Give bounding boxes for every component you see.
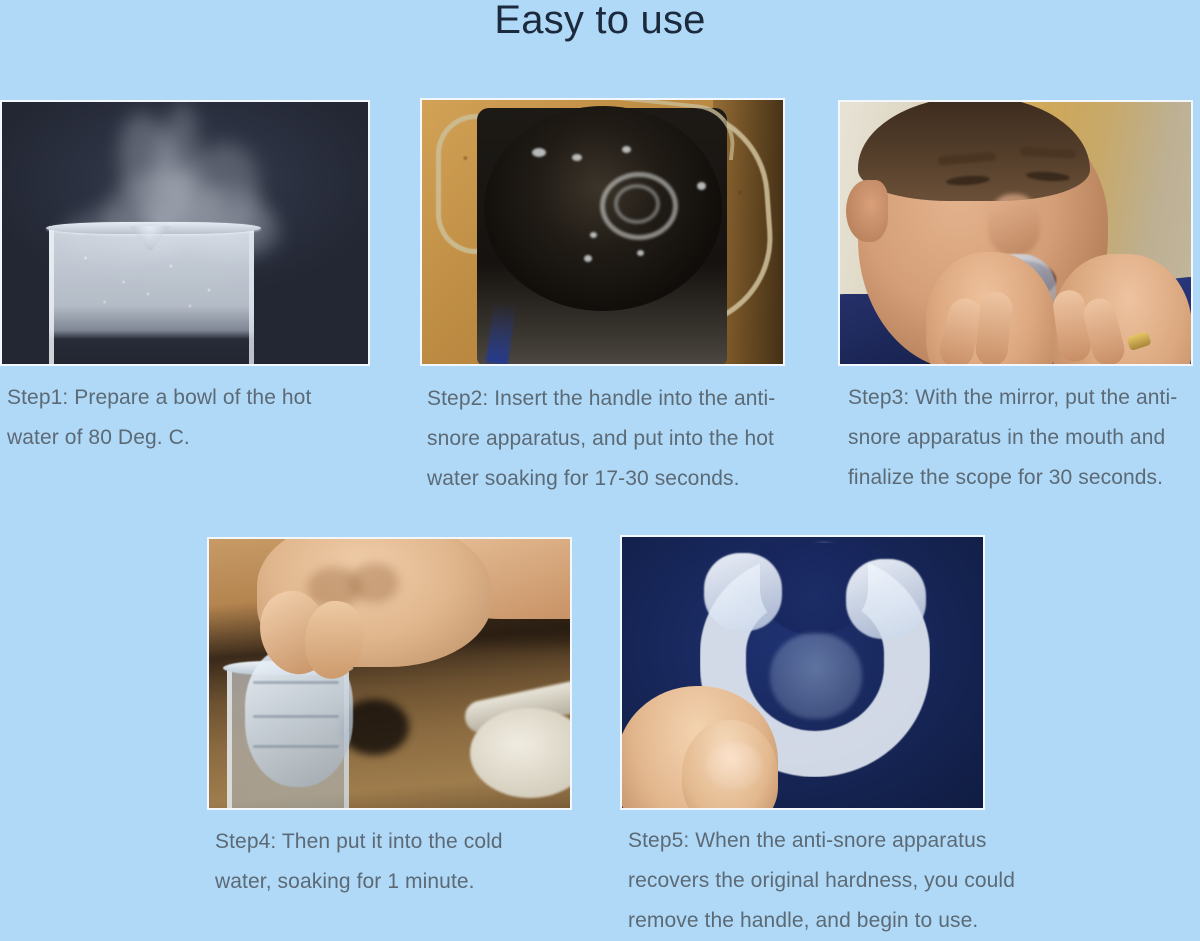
- water-highlight: [637, 250, 644, 256]
- water-highlight: [584, 255, 592, 262]
- apparatus-detail-line: [253, 681, 339, 684]
- photo-cold-water-glass: [207, 537, 572, 810]
- step-block-4: Step4: Then put it into the cold water, …: [207, 537, 573, 902]
- apparatus-detail-line: [253, 715, 339, 718]
- step-block-5: Step5: When the anti-snore apparatus rec…: [620, 535, 986, 941]
- water-highlight: [697, 182, 706, 190]
- step-block-3: Step3: With the mirror, put the anti-sno…: [838, 100, 1200, 498]
- step-caption-5: Step5: When the anti-snore apparatus rec…: [628, 821, 1068, 941]
- step-caption-2: Step2: Insert the handle into the anti-s…: [427, 379, 807, 499]
- knuckle-shadow: [349, 563, 399, 603]
- photo-pot-of-hot-water: [420, 98, 785, 366]
- nose: [988, 194, 1040, 256]
- photo-hot-water-beaker: [0, 100, 370, 366]
- water-highlight: [532, 148, 546, 157]
- page-title: Easy to use: [0, 0, 1200, 43]
- photo-man-fitting-device: [838, 100, 1193, 366]
- apparatus-inner-shadow: [770, 633, 862, 719]
- fingernail: [706, 742, 762, 790]
- step-caption-1: Step1: Prepare a bowl of the hot water o…: [7, 378, 347, 458]
- water-swirl-inner: [614, 184, 660, 224]
- apparatus-pad-right: [846, 559, 926, 639]
- photo-finished-mouthpiece: [620, 535, 985, 810]
- step-caption-3: Step3: With the mirror, put the anti-sno…: [848, 378, 1193, 498]
- water-bubbles: [57, 242, 247, 322]
- step-block-2: Step2: Insert the handle into the anti-s…: [420, 98, 790, 499]
- water-highlight: [572, 154, 582, 161]
- step-block-1: Step1: Prepare a bowl of the hot water o…: [0, 100, 372, 458]
- water-highlight: [590, 232, 597, 238]
- step-caption-4: Step4: Then put it into the cold water, …: [215, 822, 565, 902]
- apparatus-pad-left: [704, 553, 782, 631]
- apparatus-detail-line: [253, 745, 339, 748]
- ear: [846, 180, 888, 242]
